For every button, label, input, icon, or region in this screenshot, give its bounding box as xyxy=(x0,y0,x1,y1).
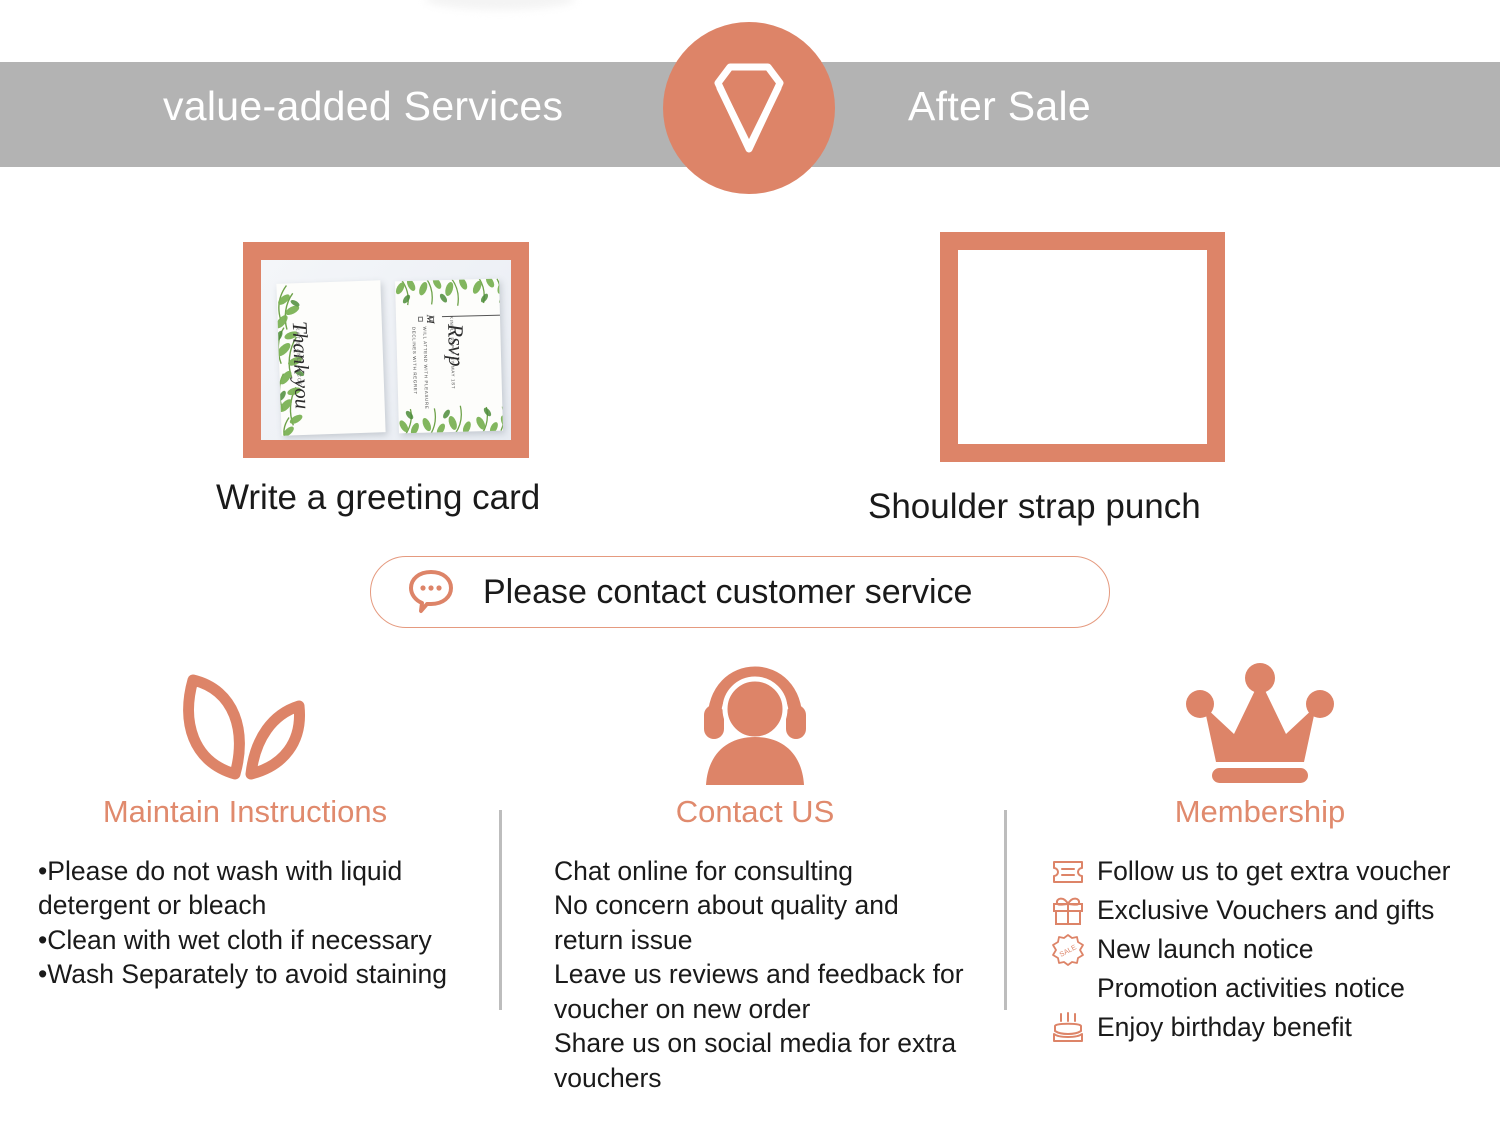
rsvp-card: Rsvp M KINDLY REPLY BY MAY 1ST WILL ATTE… xyxy=(395,279,503,434)
list-item: Exclusive Vouchers and gifts xyxy=(1047,891,1495,930)
photo-backdrop xyxy=(958,250,1207,444)
birthday-cake-icon xyxy=(1047,1012,1089,1044)
membership-benefit-label: New launch notice xyxy=(1097,934,1314,965)
svg-text:SALE: SALE xyxy=(1059,943,1078,958)
diamond-v-logo xyxy=(663,22,835,194)
greeting-card-photo: Thank you KATIE AND JACOB xyxy=(261,260,511,440)
contact-us-title: Contact US xyxy=(520,794,990,830)
list-item: Follow us to get extra voucher xyxy=(1047,852,1495,891)
header-title-left: value-added Services xyxy=(163,83,563,130)
gift-icon xyxy=(1047,895,1089,927)
column-contact-us: Contact US Chat online for consulting No… xyxy=(520,660,990,1095)
column-divider-2 xyxy=(1004,810,1007,1010)
contact-line: vouchers xyxy=(554,1061,990,1095)
maintain-line: •Please do not wash with liquid xyxy=(38,854,480,888)
rsvp-option-2: DECLINES WITH REGRET xyxy=(411,327,418,395)
rsvp-checkbox-1[interactable] xyxy=(429,316,434,321)
rsvp-script: Rsvp xyxy=(442,323,469,366)
sale-badge-icon: SALE xyxy=(1047,933,1089,967)
contact-line: Chat online for consulting xyxy=(554,854,990,888)
thank-you-card: Thank you KATIE AND JACOB xyxy=(276,280,385,436)
membership-benefit-list: Follow us to get extra voucher Exclusive… xyxy=(1025,852,1495,1047)
greeting-card-caption: Write a greeting card xyxy=(216,478,540,518)
column-divider-1 xyxy=(499,810,502,1010)
chat-bubble-icon xyxy=(405,564,457,621)
contact-customer-service-label: Please contact customer service xyxy=(483,573,972,612)
top-artifact xyxy=(425,0,575,10)
shoulder-strap-photo-frame xyxy=(940,232,1225,462)
maintain-instructions-body: •Please do not wash with liquid detergen… xyxy=(10,854,480,992)
maintain-line: •Wash Separately to avoid staining xyxy=(38,957,480,991)
contact-line: return issue xyxy=(554,923,990,957)
greeting-card-photo-frame: Thank you KATIE AND JACOB xyxy=(243,242,529,458)
maintain-line: detergent or bleach xyxy=(38,888,480,922)
list-item: SALE New launch notice xyxy=(1047,930,1495,969)
leaf-icon xyxy=(10,660,480,786)
membership-benefit-label: Exclusive Vouchers and gifts xyxy=(1097,895,1434,926)
contact-line: Leave us reviews and feedback for xyxy=(554,957,990,991)
membership-benefit-label: Promotion activities notice xyxy=(1097,973,1405,1004)
membership-title: Membership xyxy=(1025,794,1495,830)
membership-benefit-label: Follow us to get extra voucher xyxy=(1097,856,1451,887)
shoulder-strap-photo xyxy=(958,250,1207,444)
contact-us-body: Chat online for consulting No concern ab… xyxy=(520,854,990,1095)
list-item: Enjoy birthday benefit xyxy=(1047,1008,1495,1047)
column-maintain-instructions: Maintain Instructions •Please do not was… xyxy=(10,660,480,992)
contact-line: No concern about quality and xyxy=(554,888,990,922)
header-title-right: After Sale xyxy=(908,83,1091,130)
crown-icon xyxy=(1025,660,1495,786)
maintain-instructions-title: Maintain Instructions xyxy=(10,794,480,830)
infographic-page: value-added Services After Sale xyxy=(0,0,1500,1145)
shoulder-strap-caption: Shoulder strap punch xyxy=(868,487,1201,527)
maintain-line: •Clean with wet cloth if necessary xyxy=(38,923,480,957)
ticket-icon xyxy=(1047,858,1089,886)
contact-line: Share us on social media for extra xyxy=(554,1026,990,1060)
membership-benefit-label: Enjoy birthday benefit xyxy=(1097,1012,1352,1043)
rsvp-option-1: WILL ATTEND WITH PLEASURE xyxy=(422,327,429,410)
column-membership: Membership Follow us to get extra vouche… xyxy=(1025,660,1495,1047)
contact-customer-service-button[interactable]: Please contact customer service xyxy=(370,556,1110,628)
headset-agent-icon xyxy=(520,660,990,786)
list-item: Promotion activities notice xyxy=(1047,969,1495,1008)
contact-line: voucher on new order xyxy=(554,992,990,1026)
rsvp-checkbox-2[interactable] xyxy=(418,317,423,322)
